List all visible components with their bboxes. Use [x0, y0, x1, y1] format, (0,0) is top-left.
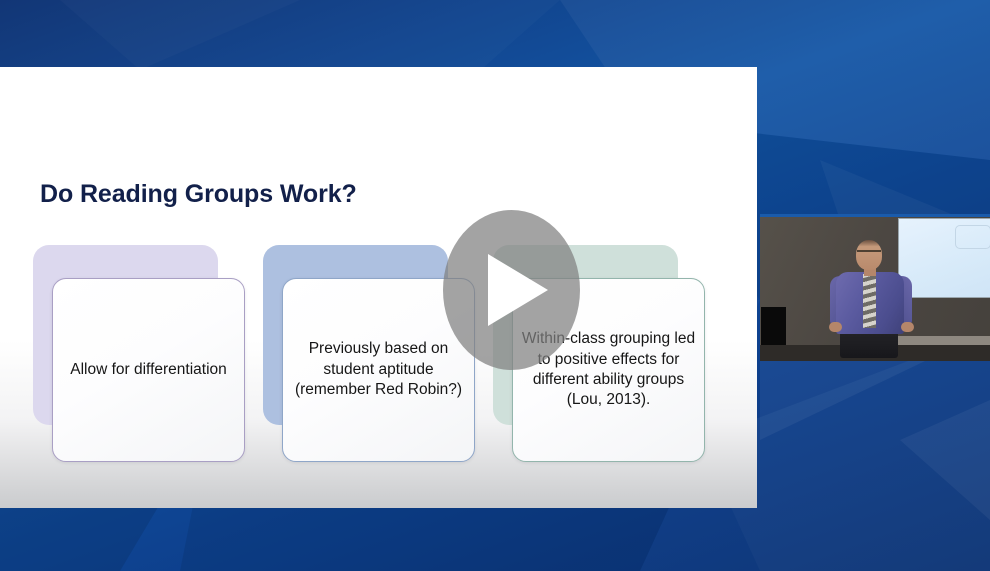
- card-2-text: Previously based on student aptitude (re…: [283, 339, 474, 400]
- video-top-edge: [760, 214, 990, 217]
- presenter-tie: [863, 274, 876, 328]
- presenter-hand-right: [901, 322, 914, 332]
- card-1: Allow for differentiation: [33, 245, 248, 465]
- presenter-video[interactable]: [760, 214, 990, 361]
- presenter-trousers: [840, 330, 898, 358]
- page-title: Do Reading Groups Work?: [40, 180, 357, 209]
- play-triangle-icon: [488, 254, 548, 326]
- presentation-slide: Do Reading Groups Work? Allow for differ…: [0, 67, 757, 508]
- video-ledge: [886, 336, 990, 345]
- presenter-hand-left: [829, 322, 842, 332]
- play-button[interactable]: [443, 210, 580, 370]
- video-dark-object: [761, 307, 786, 349]
- video-projected-shape: [955, 225, 990, 249]
- video-player-stage: Do Reading Groups Work? Allow for differ…: [0, 0, 990, 571]
- presenter-glasses: [857, 250, 881, 257]
- card-1-text: Allow for differentiation: [62, 360, 235, 380]
- card-1-panel: Allow for differentiation: [52, 278, 245, 462]
